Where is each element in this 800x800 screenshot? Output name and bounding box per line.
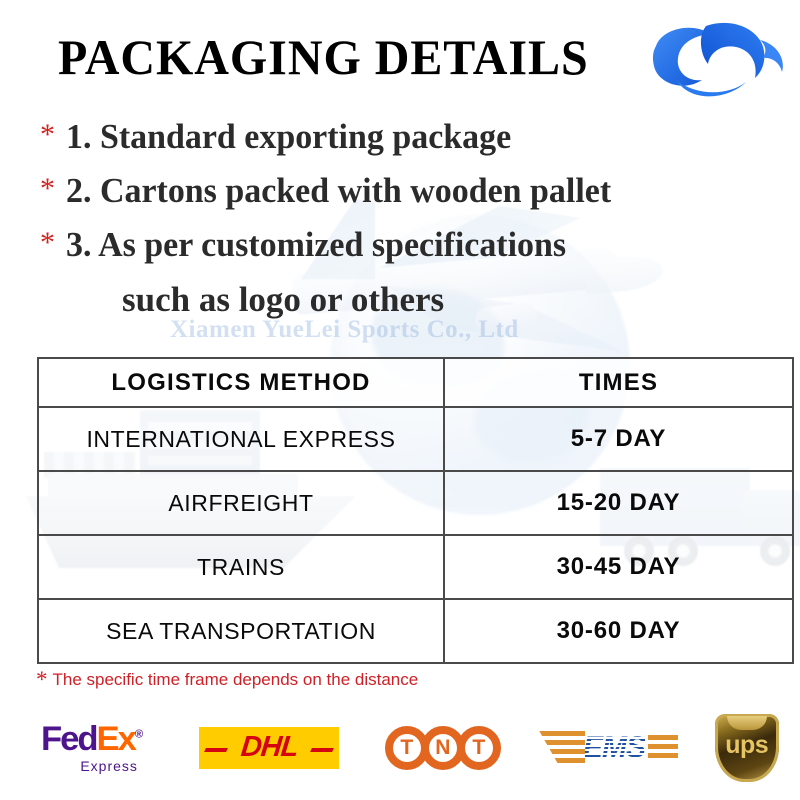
cell-times: 15-20 DAY [444,471,793,535]
asterisk-icon: * [36,668,48,691]
cell-method: SEA TRANSPORTATION [38,599,444,663]
list-item-label: 2. Cartons packed with wooden pallet [66,166,611,216]
cell-times: 30-60 DAY [444,599,793,663]
fedex-logo: FedEx® Express [0,713,184,783]
asterisk-icon: * [40,220,66,266]
footnote-text: The specific time frame depends on the d… [53,670,419,690]
table-row: TRAINS 30-45 DAY [38,535,793,599]
ups-bow-icon [727,716,767,730]
table-row: SEA TRANSPORTATION 30-60 DAY [38,599,793,663]
ems-logo: EMS [524,713,694,783]
ems-speed-lines-right-icon [648,735,678,761]
registered-mark-icon: ® [135,728,143,740]
page-title: PACKAGING DETAILS [58,28,589,86]
ems-speed-lines-icon [539,731,585,765]
carrier-logo-strip: FedEx® Express DHL T N T EMS ups [0,705,800,790]
table-row: INTERNATIONAL EXPRESS 5-7 DAY [38,407,793,471]
ems-wordmark: EMS [583,731,645,765]
cell-method: INTERNATIONAL EXPRESS [38,407,444,471]
logistics-table: LOGISTICS METHOD TIMES INTERNATIONAL EXP… [37,357,794,664]
ups-wordmark: ups [725,731,768,760]
fedex-fed-text: Fed [41,720,97,758]
dhl-badge: DHL [199,727,339,769]
tnt-ring-3: T [457,726,501,770]
fedex-subtitle: Express [80,758,138,774]
ups-shield-icon: ups [715,714,779,782]
column-header-method: LOGISTICS METHOD [38,358,444,407]
footnote: * The specific time frame depends on the… [36,668,418,691]
dhl-wordmark: DHL [239,731,299,764]
list-item: * 2. Cartons packed with wooden pallet [40,166,780,218]
column-header-times: TIMES [444,358,793,407]
list-item: * 1. Standard exporting package [40,112,780,164]
company-swirl-logo [636,14,796,104]
asterisk-icon: * [40,112,66,158]
fedex-wordmark: FedEx® [41,722,143,756]
cell-method: AIRFREIGHT [38,471,444,535]
ups-logo: ups [693,713,800,783]
tnt-logo: T N T [354,713,524,783]
asterisk-icon: * [40,166,66,212]
packaging-bullet-list: * 1. Standard exporting package * 2. Car… [40,112,780,326]
list-item: * 3. As per customized specifications [40,220,780,272]
page-header: PACKAGING DETAILS [0,0,800,100]
table-row: AIRFREIGHT 15-20 DAY [38,471,793,535]
table-header-row: LOGISTICS METHOD TIMES [38,358,793,407]
cell-method: TRAINS [38,535,444,599]
list-item-label: 3. As per customized specifications [66,220,566,270]
cell-times: 30-45 DAY [444,535,793,599]
dhl-logo: DHL [184,713,354,783]
packaging-details-page: PACKAGING DETAILS [0,0,800,800]
ems-mark: EMS [539,731,678,765]
list-item-label: 1. Standard exporting package [66,112,511,162]
cell-times: 5-7 DAY [444,407,793,471]
fedex-ex-text: Ex [97,720,135,758]
company-watermark: Xiamen YueLei Sports Co., Ltd [170,316,519,344]
